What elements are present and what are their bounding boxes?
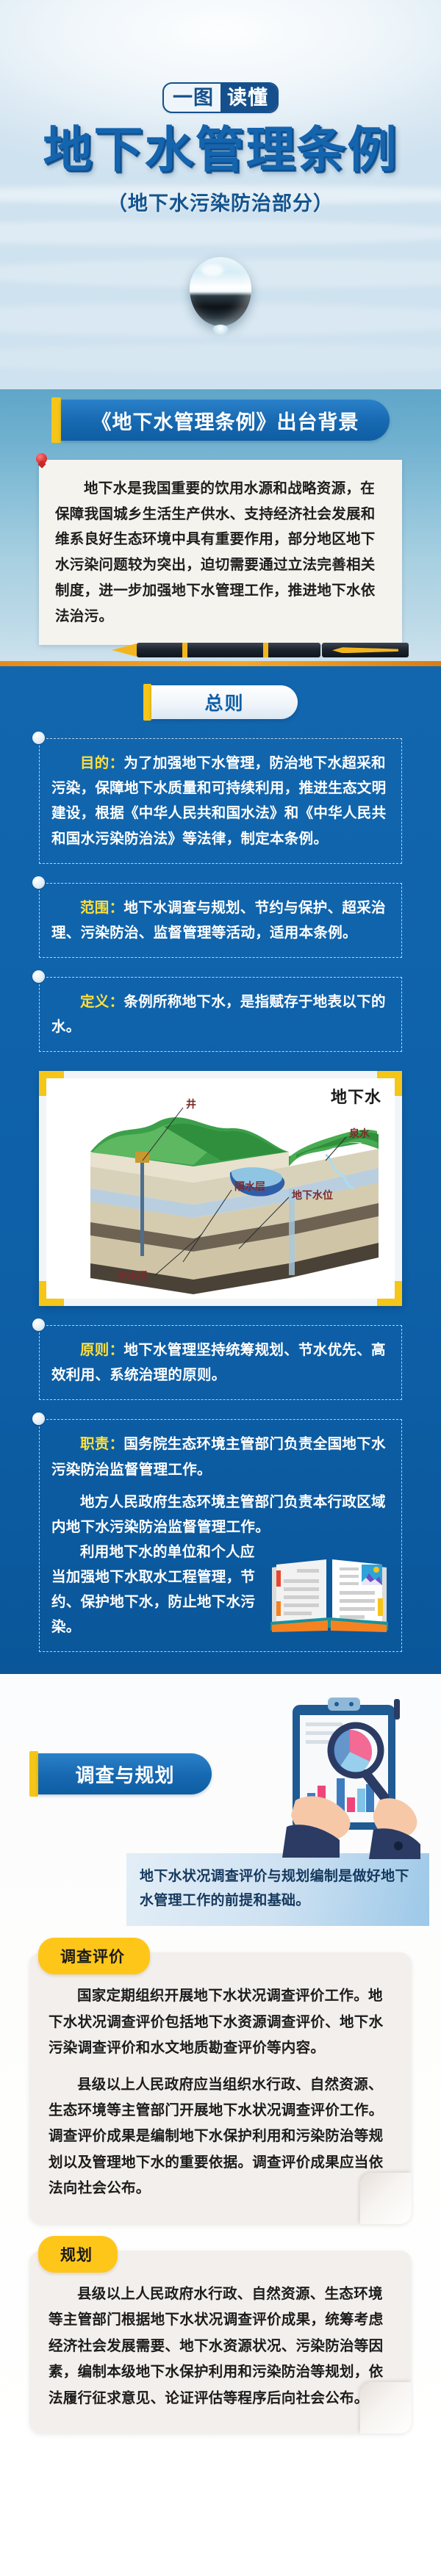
background-header-label: 《地下水管理条例》出台背景 [61,400,390,441]
provision-key-scope: 范围： [80,900,123,916]
diagram-label-aquifer: 含水层 [117,1270,148,1282]
bullet-dot-icon [32,876,45,889]
planning-lead-text: 地下水状况调查评价与规划编制是做好地下水管理工作的前提和基础。 [140,1869,409,1908]
read-in-one-image-badge: 一图 读懂 [162,82,279,113]
page-curl-decoration [360,2382,412,2434]
groundwater-diagram: 地下水 [39,1071,402,1306]
investigation-planning-section: 调查与规划 [0,1674,441,2466]
planning-header-label: 调查与规划 [38,1753,212,1794]
page-subtitle: （地下水污染防治部分） [0,187,441,216]
diagram-label-well: 井 [186,1098,196,1110]
general-provisions-section: 总则 目的：为了加强地下水管理，防治地下水超采和污染，保障地下水质量和可持续利用… [0,666,441,1674]
investigation-paragraph-1: 国家定期组织开展地下水状况调查评价工作。地下水状况调查评价包括地下水资源调查评价… [49,1983,392,2061]
block-investigation-evaluation: 调查评价 国家定期组织开展地下水状况调查评价工作。地下水状况调查评价包括地下水资… [29,1952,412,2224]
pushpin-icon [36,453,47,464]
provision-text-responsibilities-2: 地方人民政府生态环境主管部门负责本行政区域内地下水污染防治监督管理工作。 [51,1490,391,1540]
block-tag-investigation: 调查评价 [38,1938,150,1974]
provision-key-responsibilities: 职责： [80,1436,123,1452]
open-book-icon [268,1545,391,1634]
page-curl-decoration [360,2173,412,2224]
provision-key-principles: 原则： [80,1342,123,1358]
diagram-label-aquitard: 隔水层 [234,1180,265,1192]
provision-item-definition: 定义：条例所称地下水，是指赋存于地表以下的水。 [39,977,402,1052]
background-note-card: 地下水是我国重要的饮用水源和战略资源，在保障我国城乡生活生产供水、支持经济社会发… [39,460,402,645]
provision-key-purpose: 目的： [80,755,123,771]
provision-item-responsibilities: 职责：国务院生态环境主管部门负责全国地下水污染防治监督管理工作。 地方人民政府生… [39,1419,402,1652]
block-planning: 规划 县级以上人民政府水行政、自然资源、生态环境等主管部门根据地下水状况调查评价… [29,2251,412,2434]
diagram-title: 地下水 [331,1084,381,1108]
badge-label-left: 一图 [164,84,220,112]
provision-item-purpose: 目的：为了加强地下水管理，防治地下水超采和污染，保障地下水质量和可持续利用，推进… [39,738,402,864]
groundwater-cross-section-svg: 井 隔水层 地下水位 泉水 含水层 [46,1078,395,1299]
page-title: 地下水管理条例 [0,125,441,176]
background-section: 《地下水管理条例》出台背景 地下水是我国重要的饮用水源和战略资源，在保障我国城乡… [0,389,441,666]
hero-section: 一图 读懂 地下水管理条例 （地下水污染防治部分） [0,0,441,389]
diagram-label-water-table: 地下水位 [292,1189,333,1201]
header-accent-bar [29,1751,38,1797]
provision-item-principles: 原则：地下水管理坚持统筹规划、节水优先、高效利用、系统治理的原则。 [39,1325,402,1400]
background-paragraph: 地下水是我国重要的饮用水源和战略资源，在保障我国城乡生活生产供水、支持经济社会发… [55,476,387,629]
block-tag-planning: 规划 [38,2236,118,2273]
section-divider [0,661,441,666]
infographic-page: 一图 读懂 地下水管理条例 （地下水污染防治部分） 《地下水管理条例》出台背景 … [0,0,441,2466]
provision-item-scope: 范围：地下水调查与规划、节约与保护、超采治理、污染防治、监督管理等活动，适用本条… [39,883,402,958]
planning-lead-box: 地下水状况调查评价与规划编制是做好地下水管理工作的前提和基础。 [126,1853,429,1926]
water-drop-illustration [190,257,251,326]
planning-section-header: 调查与规划 [29,1753,212,1794]
bullet-dot-icon [32,970,45,983]
provision-key-definition: 定义： [80,994,123,1010]
general-header-label: 总则 [151,685,298,719]
background-section-header: 《地下水管理条例》出台背景 [51,400,390,441]
investigation-paragraph-2: 县级以上人民政府应当组织水行政、自然资源、生态环境等主管部门开展地下水状况调查评… [49,2072,392,2202]
header-accent-bar [143,684,151,721]
header-accent-bar [51,397,61,443]
clipboard-magnifier-illustration [269,1690,423,1859]
general-section-header: 总则 [143,685,298,719]
planning-paragraph-1: 县级以上人民政府水行政、自然资源、生态环境等主管部门根据地下水状况调查评价成果，… [49,2281,392,2411]
provision-text-responsibilities-3: 利用地下水的单位和个人应当加强地下水取水工程管理，节约、保护地下水，防止地下水污… [51,1540,263,1640]
badge-label-right: 读懂 [220,84,277,112]
diagram-label-spring: 泉水 [349,1128,370,1139]
fountain-pen-icon [112,639,420,661]
